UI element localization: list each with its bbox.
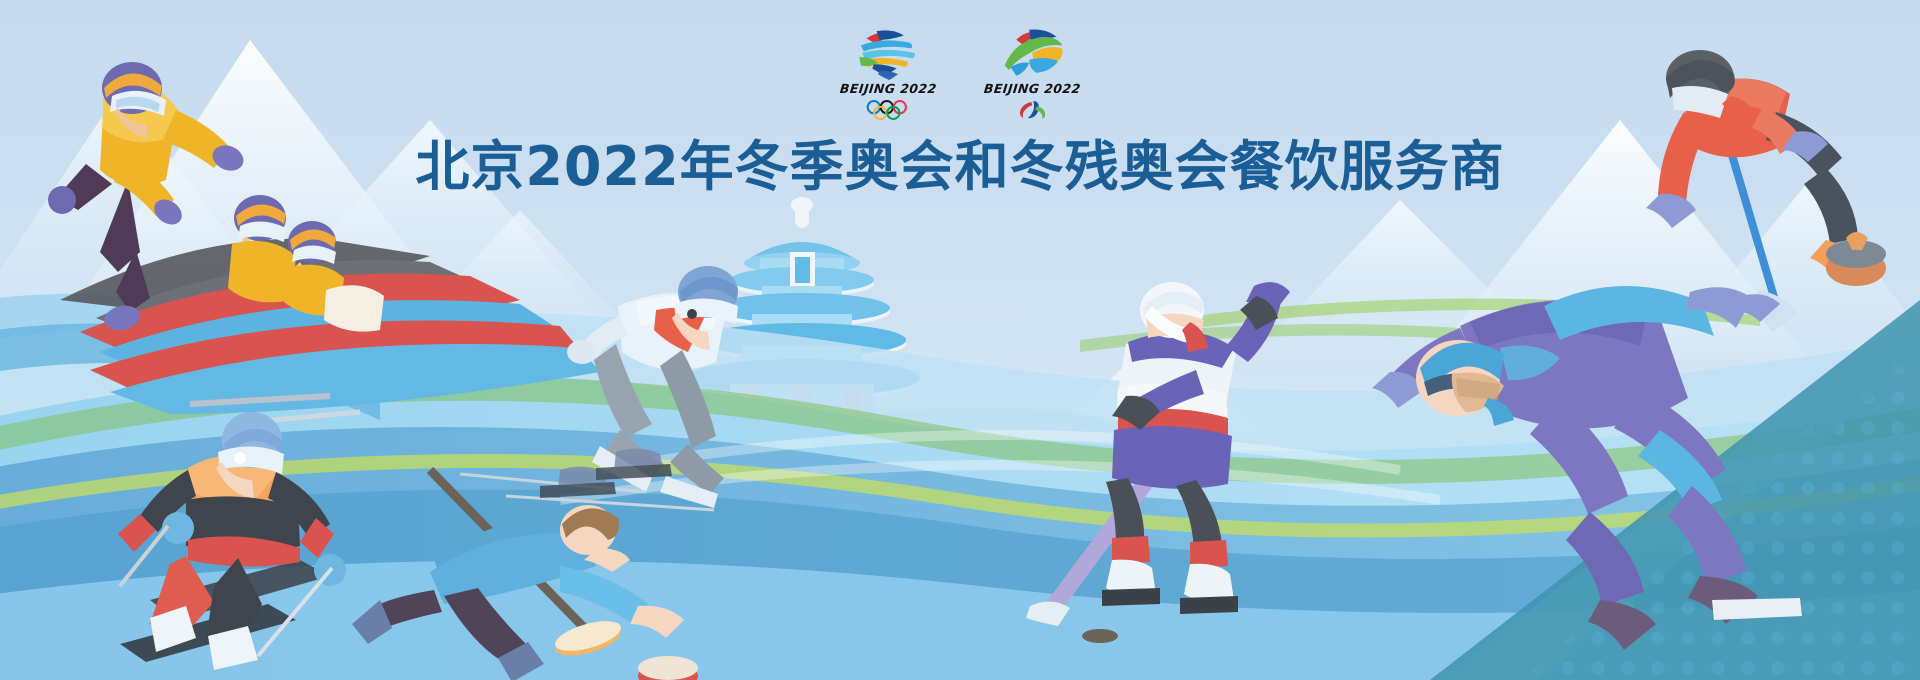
page-title: 北京2022年冬季奥会和冬残奥会餐饮服务商 [0, 122, 1920, 201]
speed-skater-purple [1372, 286, 1802, 650]
alpine-skier [118, 412, 346, 670]
curler-sweeper [352, 470, 698, 680]
fei-flying-emblem [989, 24, 1075, 80]
olympic-banner: BEIJING 2022 BEIJING 2022 [0, 0, 1920, 680]
olympic-emblem: BEIJING 2022 [840, 24, 936, 121]
paralympic-agitos [1005, 100, 1060, 120]
paralympic-emblem: BEIJING 2022 [984, 24, 1080, 120]
olympic-wordmark: BEIJING 2022 [839, 81, 937, 96]
hockey-puck [1082, 629, 1118, 643]
paralympic-wordmark: BEIJING 2022 [983, 81, 1081, 96]
ice-hockey-player [1026, 282, 1290, 643]
dong-winter-dream-emblem [845, 24, 931, 80]
olympic-rings [864, 99, 913, 121]
emblem-group: BEIJING 2022 BEIJING 2022 [0, 24, 1920, 121]
